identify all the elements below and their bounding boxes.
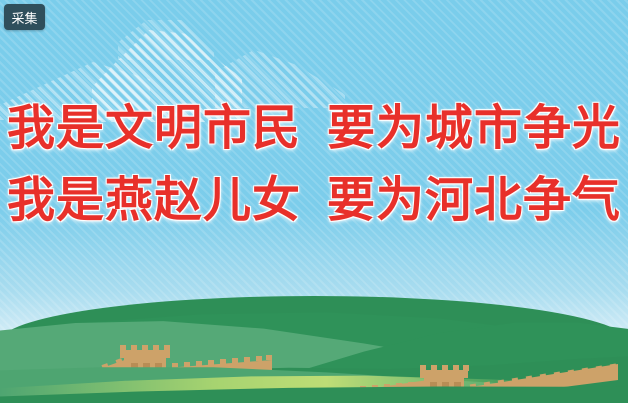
slogan-line-2-left: 我是燕赵儿女 <box>7 172 301 228</box>
slogan-line-1-right: 要为城市争光 <box>327 100 621 156</box>
slogan-line-1-left: 我是文明市民 <box>7 100 301 156</box>
slogan-line-2-right: 要为河北争气 <box>327 172 621 228</box>
capture-button[interactable]: 采集 <box>4 4 45 30</box>
banner-image: 我是文明市民要为城市争光 我是燕赵儿女要为河北争气 <box>0 0 628 403</box>
slogan-line-2: 我是燕赵儿女要为河北争气 <box>0 164 628 236</box>
slogan-block: 我是文明市民要为城市争光 我是燕赵儿女要为河北争气 <box>0 92 628 236</box>
slogan-line-1: 我是文明市民要为城市争光 <box>0 92 628 164</box>
